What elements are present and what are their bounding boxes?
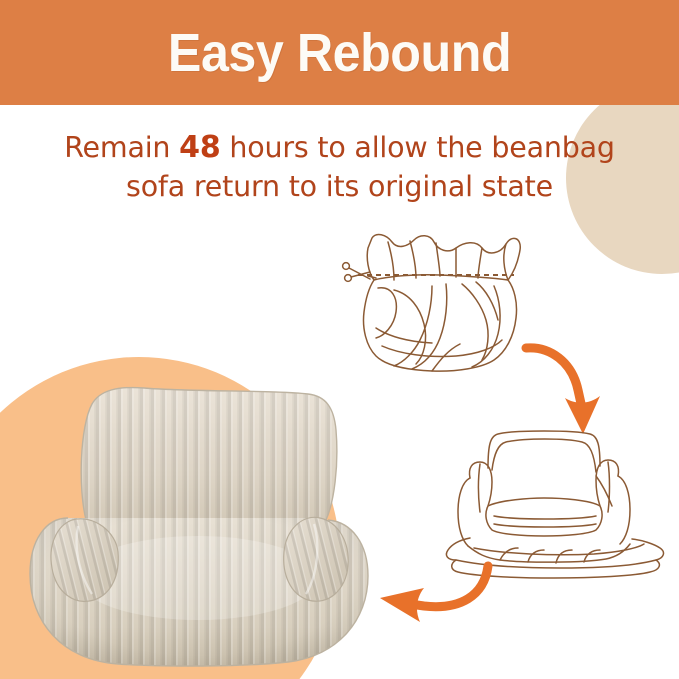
subtitle-line1-pre: Remain (64, 131, 179, 164)
hours-highlight: 48 (179, 130, 220, 165)
subtitle-line1-post: hours to allow the beanbag (221, 131, 615, 164)
promo-graphic: Easy Rebound Remain 48 hours to allow th… (0, 0, 679, 679)
chair-backrest (68, 378, 368, 538)
illustration-step-1 (336, 228, 551, 383)
header-banner: Easy Rebound (0, 0, 679, 105)
subtitle-line-2: sofa return to its original state (0, 167, 679, 206)
product-photo (8, 368, 388, 668)
page-title: Easy Rebound (168, 26, 511, 80)
chair-armrest-right (284, 517, 349, 601)
chair-armrest-left (51, 519, 118, 602)
curved-arrow-left (368, 548, 498, 643)
subtitle-line-1: Remain 48 hours to allow the beanbag (0, 128, 679, 167)
subtitle-text: Remain 48 hours to allow the beanbag sof… (0, 128, 679, 206)
